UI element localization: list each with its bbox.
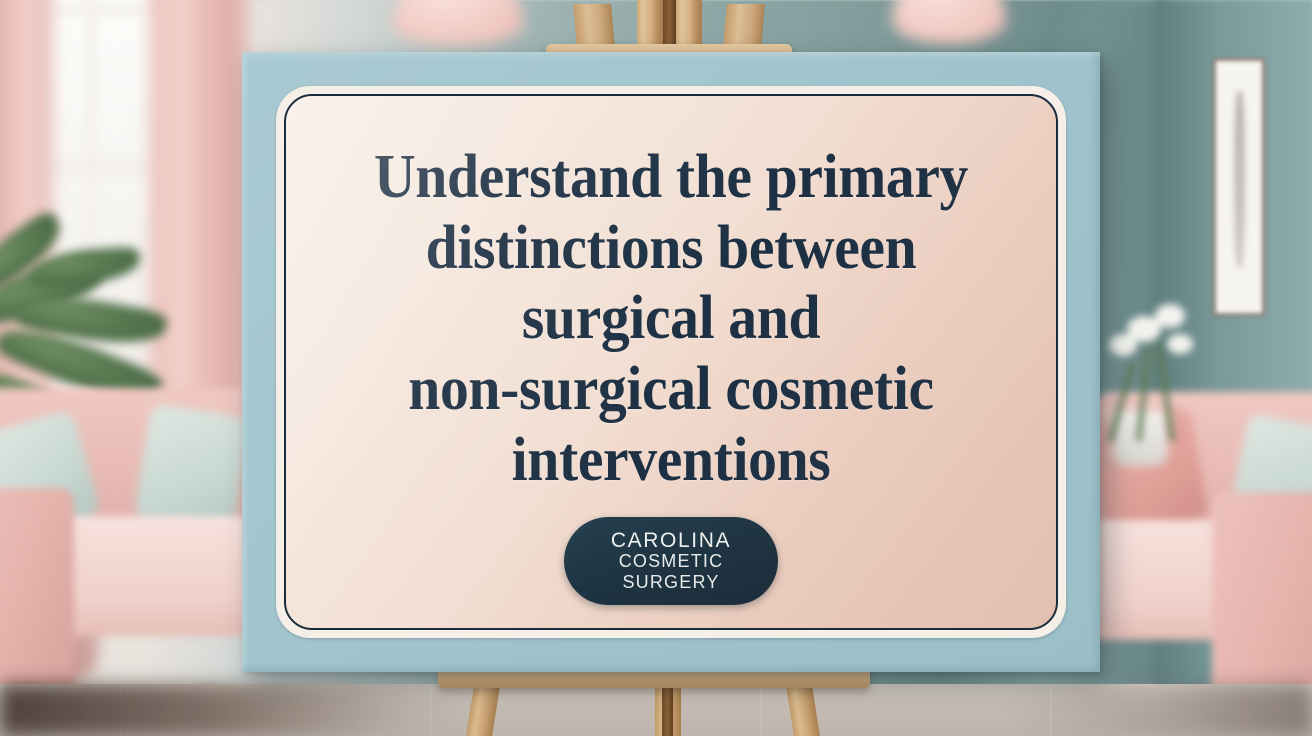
sofa-left [0, 388, 270, 718]
white-flowers [1105, 290, 1215, 440]
framed-wall-art [1213, 58, 1265, 316]
sofa-pillow [134, 403, 251, 533]
pendant-lamp-left [392, 0, 524, 46]
easel-leg-center-gap [662, 686, 673, 736]
headline-line-3: surgical and [337, 283, 1005, 354]
floor-shadow-right [1012, 684, 1312, 736]
headline-line-1: Understand the primary [337, 142, 1005, 213]
headline-line-4: non-surgical cosmetic [337, 354, 1005, 425]
brand-name-line-1: CAROLINA [611, 530, 731, 551]
flower-head [1109, 334, 1137, 356]
flower-stem [1108, 361, 1136, 443]
headline-line-2: distinctions between [337, 213, 1005, 284]
pendant-dome [392, 0, 524, 46]
easel-post-gap [663, 0, 676, 48]
scene-root: Understand the primary distinctions betw… [0, 0, 1312, 736]
headline-line-5: interventions [337, 425, 1005, 496]
page-title: Understand the primary distinctions betw… [313, 96, 1029, 495]
brand-name-line-2: COSMETIC [619, 552, 724, 571]
sofa-arm [1212, 492, 1312, 712]
sign-board: Understand the primary distinctions betw… [242, 52, 1100, 672]
pendant-dome [892, 0, 1006, 44]
easel-top-tab-left [573, 4, 615, 48]
sofa-arm [0, 488, 74, 708]
brand-logo-badge: CAROLINA COSMETIC SURGERY [564, 517, 778, 605]
floor-shadow-left [0, 684, 470, 736]
sign-panel: Understand the primary distinctions betw… [284, 94, 1058, 630]
easel-top-tab-right [723, 4, 765, 48]
floor-plank-line [760, 684, 762, 736]
flower-head [1167, 334, 1193, 354]
brand-name-line-3: SURGERY [622, 573, 719, 592]
flower-head [1155, 304, 1185, 328]
flower-stem [1136, 348, 1151, 442]
pendant-lamp-right [892, 0, 1006, 44]
flower-stem [1156, 342, 1175, 442]
